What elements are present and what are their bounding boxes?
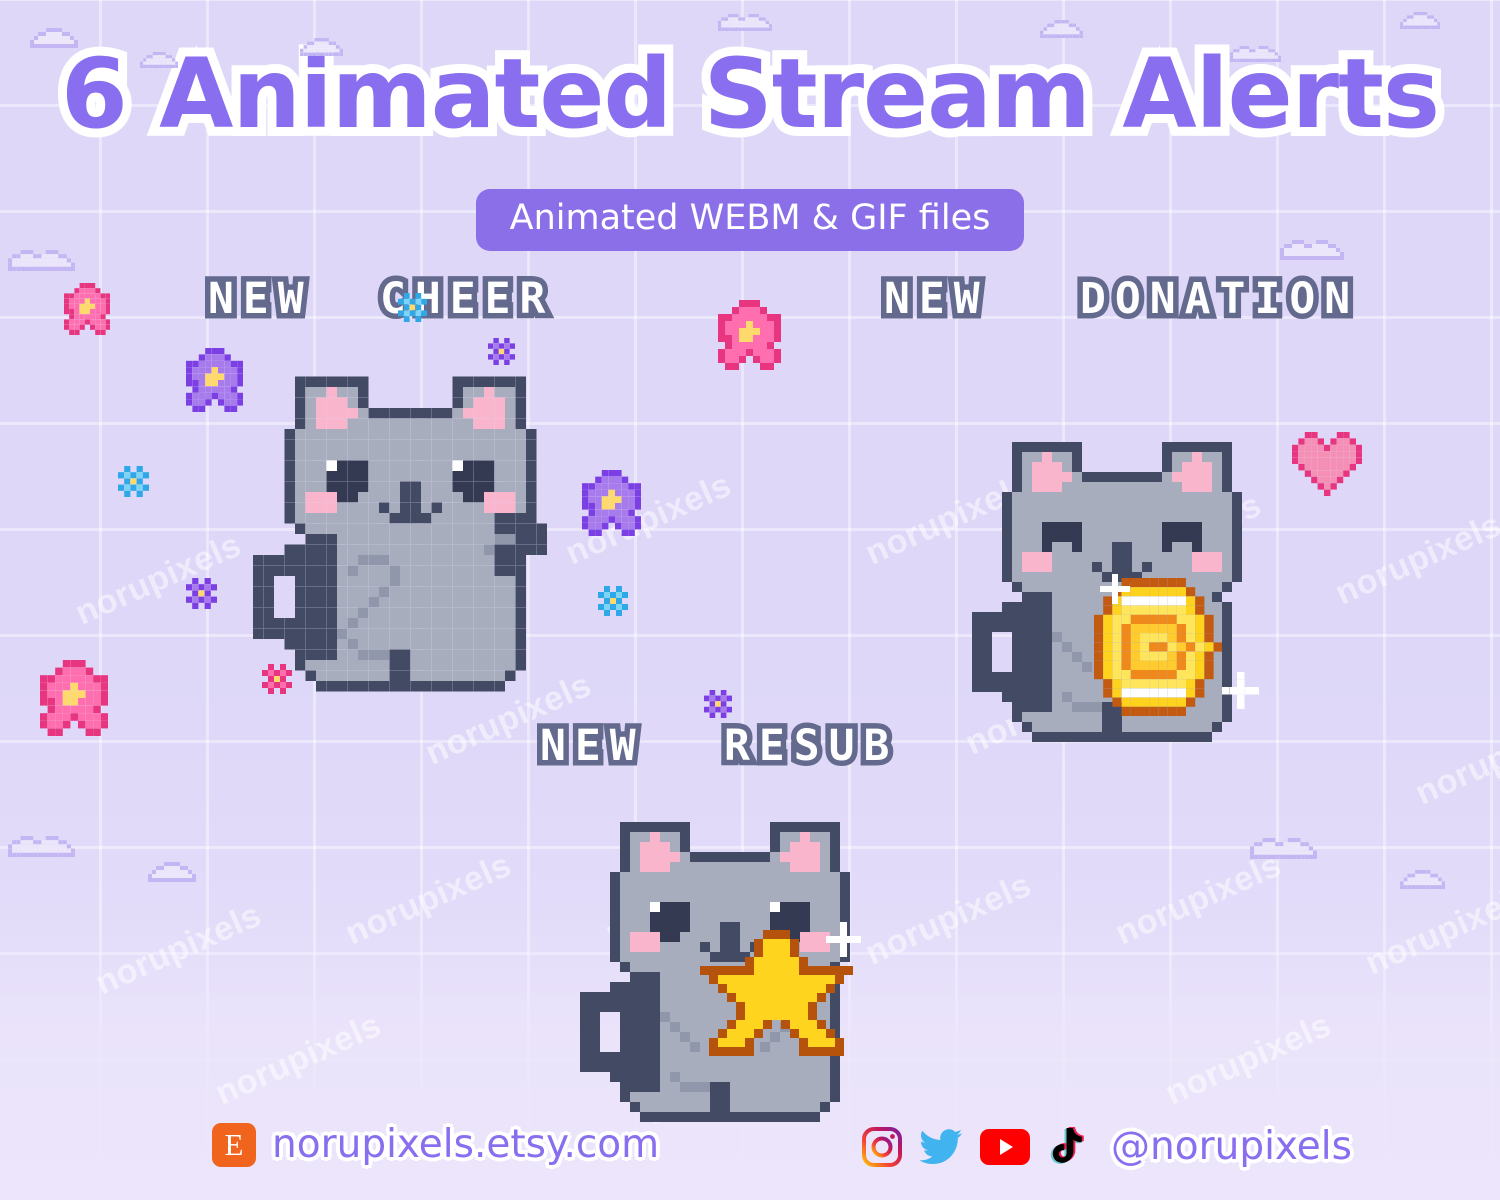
alert-label-donation-word: DONATION	[1080, 274, 1359, 324]
cloud-icon	[1400, 12, 1440, 29]
subtitle-badge-wrap: Animated WEBM & GIF files	[0, 189, 1500, 251]
alert-label-resub-new: NEW	[540, 721, 645, 771]
flower-icon	[704, 690, 732, 718]
flower-icon	[718, 300, 781, 370]
sparkle-icon	[1100, 574, 1130, 604]
etsy-icon: E	[212, 1123, 256, 1167]
etsy-link[interactable]: E norupixels.etsy.com	[212, 1122, 659, 1167]
social-links[interactable]: @norupixels	[862, 1124, 1352, 1169]
watermark: norupixels	[90, 896, 268, 1004]
youtube-icon[interactable]	[980, 1129, 1030, 1165]
sparkle-icon	[1222, 672, 1259, 709]
social-handle: @norupixels	[1111, 1124, 1352, 1169]
alert-label-cheer-new: NEW	[208, 274, 313, 324]
flower-icon	[64, 283, 110, 335]
cloud-icon	[140, 52, 178, 68]
watermark: norupixels	[1110, 846, 1288, 954]
watermark: norupixels	[210, 1006, 388, 1114]
cloud-icon	[300, 38, 343, 56]
cloud-icon	[1280, 240, 1344, 260]
tiktok-icon[interactable]	[1047, 1126, 1085, 1168]
watermark: norupixels	[70, 526, 248, 634]
flower-icon	[40, 660, 108, 736]
flower-icon	[118, 466, 149, 497]
flower-icon	[488, 338, 515, 365]
sparkle-icon	[826, 922, 861, 957]
cloud-icon	[1250, 838, 1317, 859]
twitter-icon[interactable]	[919, 1127, 963, 1167]
cloud-icon	[718, 14, 772, 31]
flower-icon	[598, 586, 628, 616]
flower-icon	[582, 470, 641, 536]
flower-icon	[398, 293, 427, 322]
cloud-icon	[8, 836, 75, 857]
footer: E norupixels.etsy.com	[0, 1118, 1500, 1178]
heart-sprite	[1292, 432, 1362, 496]
cloud-icon	[1230, 46, 1281, 62]
flower-icon	[186, 578, 217, 609]
watermark: norupixels	[1330, 506, 1500, 614]
cloud-icon	[8, 250, 75, 271]
watermark: norupixels	[1410, 706, 1500, 814]
flower-icon	[262, 664, 292, 694]
watermark: norupixels	[1160, 1006, 1338, 1114]
instagram-icon[interactable]	[862, 1127, 902, 1167]
cloud-icon	[1040, 20, 1083, 38]
alert-label-donation-new: NEW	[884, 274, 989, 324]
cloud-icon	[1400, 870, 1445, 889]
cloud-icon	[148, 862, 196, 882]
watermark: norupixels	[340, 846, 518, 954]
flower-icon	[186, 348, 243, 412]
cloud-icon	[30, 28, 78, 48]
subtitle-badge: Animated WEBM & GIF files	[476, 189, 1025, 251]
alert-label-resub-word: RESUB	[724, 721, 898, 771]
poster-canvas: norupixelsnorupixelsnorupixelsnorupixels…	[0, 0, 1500, 1200]
etsy-url-label: norupixels.etsy.com	[272, 1122, 659, 1167]
watermark: norupixels	[1360, 876, 1500, 984]
